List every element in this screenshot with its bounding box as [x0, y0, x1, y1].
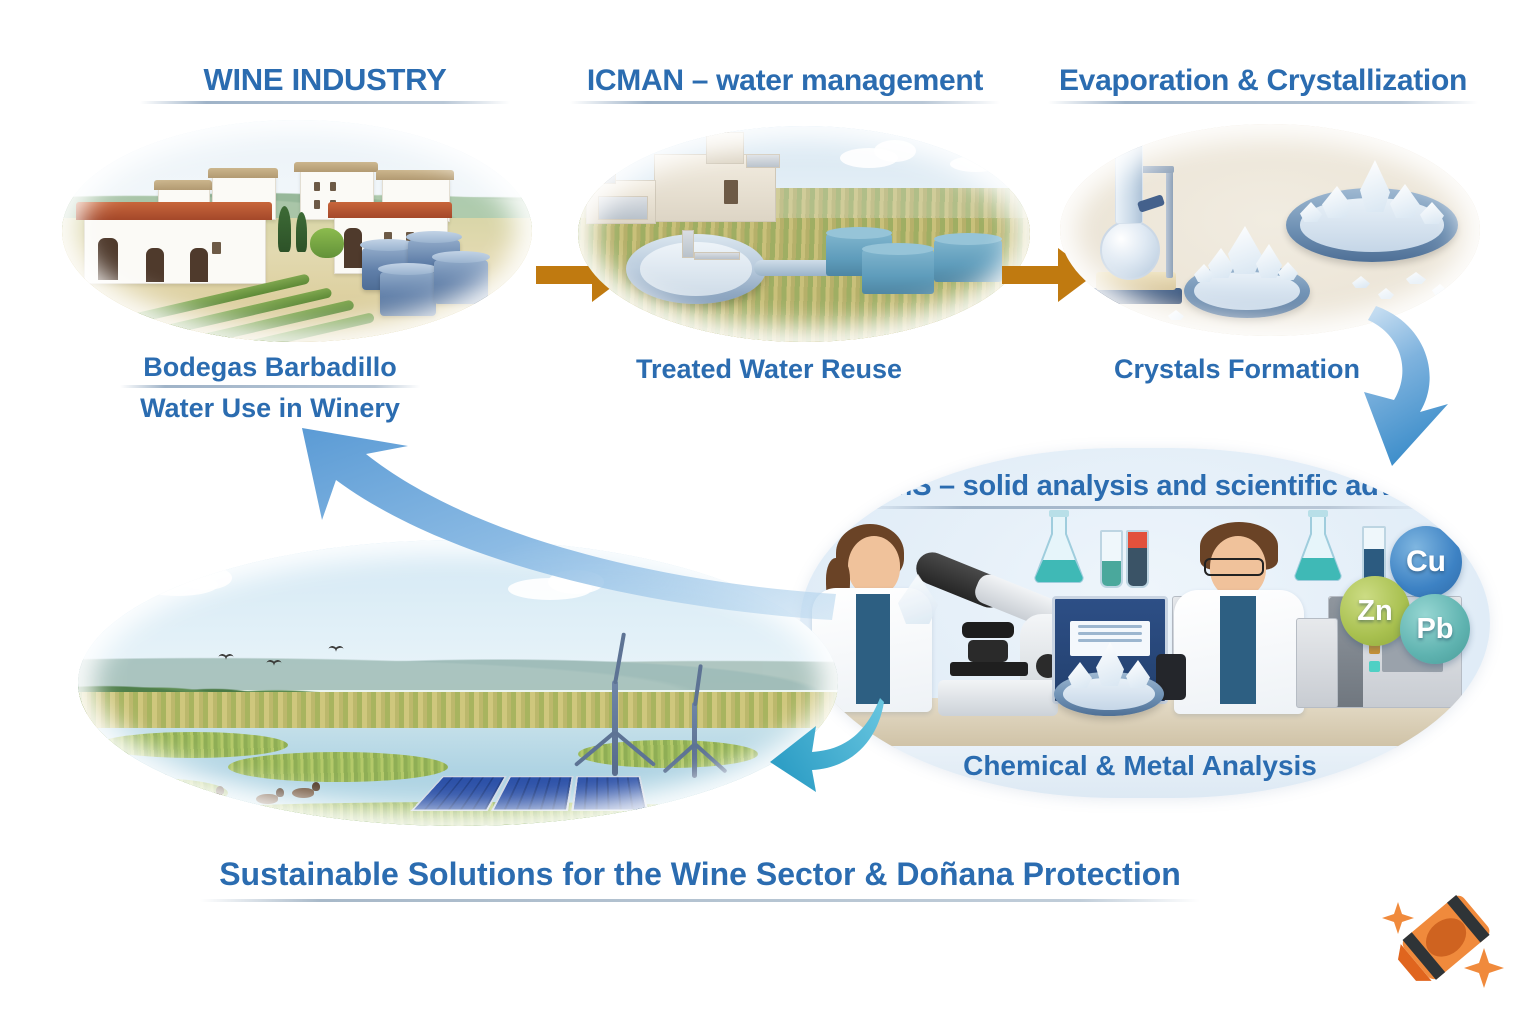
scientist-male-shirt — [1220, 596, 1256, 704]
village-roof — [208, 168, 278, 178]
caption-water-use-text: Water Use in Winery — [120, 393, 420, 424]
flying-bird — [266, 660, 282, 667]
scientist-female-head — [848, 536, 900, 596]
cypress-tree — [278, 206, 291, 252]
caption-chemical-text: Chemical & Metal Analysis — [940, 750, 1340, 782]
metal-badge-pb: Pb — [1400, 594, 1470, 664]
microscope-base — [938, 680, 1058, 716]
caption-underline — [120, 385, 420, 388]
clarifier-arm — [694, 252, 740, 260]
waterfowl — [108, 788, 130, 798]
stand-base — [1090, 288, 1182, 304]
microscope-stage — [950, 662, 1028, 676]
scientist-female-shirt — [856, 594, 890, 704]
waterfowl — [140, 780, 162, 790]
caption-treated-water-reuse: Treated Water Reuse — [604, 354, 934, 385]
heading-underline — [1048, 101, 1478, 104]
waterfowl — [292, 788, 314, 798]
footer-underline — [200, 899, 1200, 902]
tube-liquid — [1102, 561, 1121, 586]
plant-tower — [706, 132, 744, 164]
winery-door — [344, 228, 362, 268]
wind-turbine-tower — [612, 680, 618, 776]
winery-door — [98, 238, 118, 280]
window — [314, 182, 320, 191]
window — [212, 242, 221, 254]
metal-badge-cu-label: Cu — [1406, 545, 1446, 579]
tube-liquid-top — [1128, 532, 1147, 548]
caption-bodegas-text: Bodegas Barbadillo — [120, 352, 420, 383]
winery-roof-main — [76, 202, 272, 220]
caption-bodegas-barbadillo: Bodegas Barbadillo Water Use in Winery — [120, 352, 420, 424]
tree — [310, 228, 344, 258]
water-tank — [380, 272, 436, 316]
heading-underline — [140, 101, 510, 104]
test-tube — [1126, 530, 1149, 588]
heading-icms: ICMS – solid analysis and scientific adv… — [860, 470, 1430, 509]
winery-roof-right — [328, 202, 452, 218]
heading-icman: ICMAN – water management — [570, 64, 1000, 104]
cloud — [178, 566, 232, 590]
heading-icms-text: ICMS – solid analysis and scientific adv… — [860, 470, 1430, 503]
heading-icman-text: ICMAN – water management — [570, 64, 1000, 98]
condenser-cap — [1112, 128, 1146, 142]
arrow-wetland-to-wine — [280, 424, 840, 634]
scientist-male-glasses — [1204, 558, 1264, 576]
tube-liquid — [1128, 548, 1147, 586]
solar-panel — [571, 776, 648, 811]
wind-turbine-tower — [692, 702, 697, 778]
marsh-island — [228, 752, 448, 782]
waterfowl — [196, 792, 218, 802]
clarifier-mechanism — [682, 230, 694, 258]
village-roof — [376, 170, 454, 180]
arrow-icms-to-wetland — [768, 690, 888, 800]
scene-water-treatment — [578, 126, 1030, 342]
microscope-objective — [968, 640, 1008, 662]
heading-wine-industry: WINE INDUSTRY — [140, 62, 510, 104]
heading-underline — [860, 506, 1430, 509]
heading-wine-industry-text: WINE INDUSTRY — [140, 62, 510, 98]
plant-roof-unit — [746, 154, 780, 168]
cloud — [874, 140, 916, 162]
metal-badge-pb-label: Pb — [1416, 613, 1453, 646]
erlenmeyer-flask — [1032, 510, 1086, 584]
flying-bird — [218, 654, 234, 661]
window — [330, 182, 336, 191]
flying-bird — [328, 646, 344, 653]
heading-evaporation: Evaporation & Crystallization — [1048, 64, 1478, 104]
winery-door — [146, 248, 164, 282]
heading-evaporation-text: Evaporation & Crystallization — [1048, 64, 1478, 98]
metal-badge-zn-label: Zn — [1357, 595, 1392, 628]
village-roof — [294, 162, 378, 172]
cloud — [950, 156, 1002, 172]
test-tube — [1100, 530, 1123, 588]
plant-door — [724, 180, 738, 204]
village-roof — [154, 180, 212, 190]
winery-door — [190, 248, 208, 282]
infographic-canvas: WINE INDUSTRY ICMAN – water management E… — [0, 0, 1536, 1024]
caption-chemical-metal-analysis: Chemical & Metal Analysis — [940, 750, 1340, 782]
round-flask — [1100, 220, 1160, 280]
analyser-led — [1369, 661, 1380, 672]
erlenmeyer-flask — [1292, 510, 1344, 582]
caption-treated-water-text: Treated Water Reuse — [604, 354, 934, 385]
waterfowl — [256, 794, 278, 804]
plant-equipment — [598, 196, 648, 220]
microscope-objective — [962, 622, 1014, 638]
lab-instrument — [1296, 618, 1338, 708]
storage-tank — [862, 250, 934, 294]
footer-tagline-text: Sustainable Solutions for the Wine Secto… — [200, 856, 1200, 893]
storage-tank — [934, 240, 1002, 282]
stand-rod — [1166, 166, 1173, 278]
marsh-island — [98, 732, 288, 758]
arrow-evaporation-to-icms — [1330, 300, 1520, 475]
scene-winery — [62, 120, 532, 342]
solar-panel-array — [411, 776, 649, 811]
scene-laboratory: Cu Zn Pb ICMS – solid analysis and scien… — [800, 448, 1490, 798]
clarifier-tank — [626, 234, 766, 304]
water-tank — [434, 260, 488, 304]
metal-badge-zn: Zn — [1340, 576, 1410, 646]
clarifier-basin — [640, 242, 752, 295]
heading-underline — [570, 101, 1000, 104]
cypress-tree — [296, 212, 307, 252]
window — [314, 200, 320, 209]
footer-tagline: Sustainable Solutions for the Wine Secto… — [200, 856, 1200, 902]
crayon-logo — [1378, 886, 1508, 994]
plant-chimney — [600, 158, 616, 184]
